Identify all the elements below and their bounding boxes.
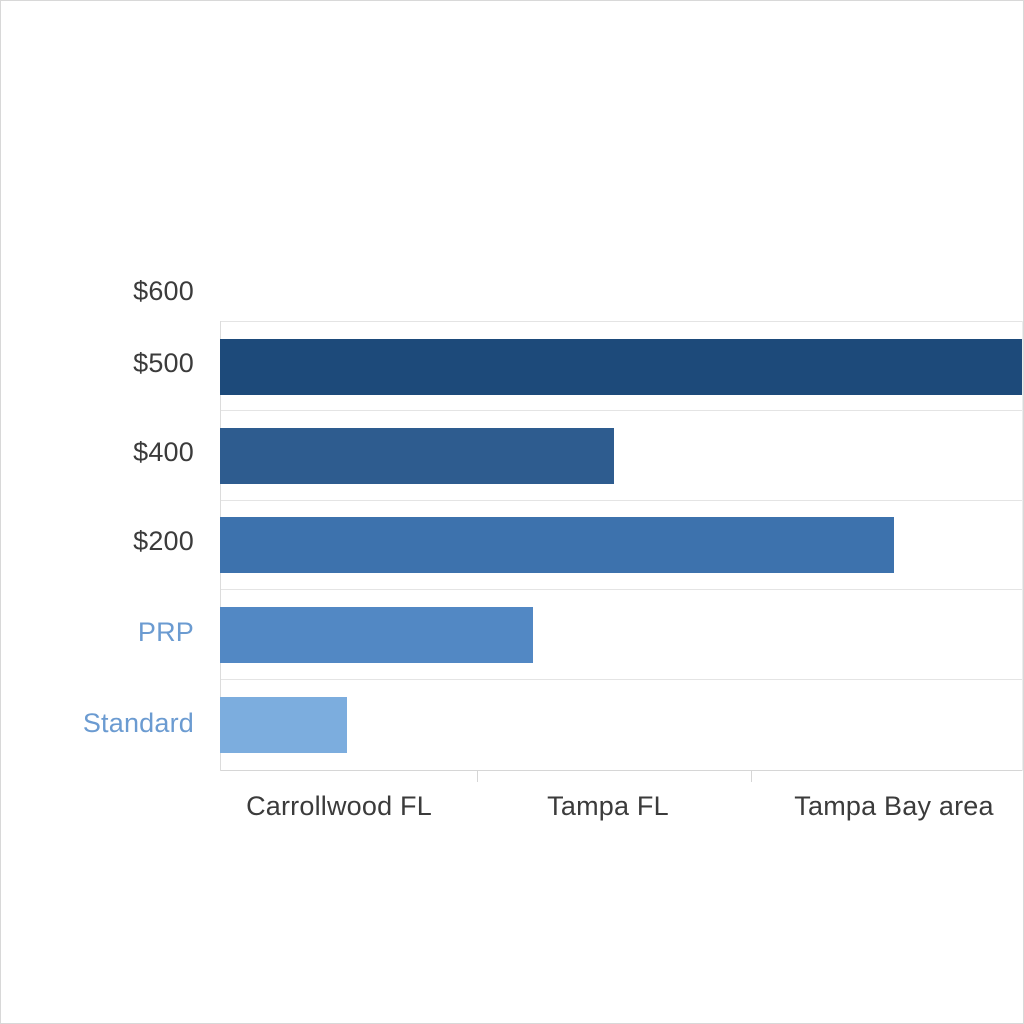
bar[interactable] (220, 607, 533, 663)
x-axis-tick-label: Carrollwood FL (246, 791, 432, 822)
bar[interactable] (220, 339, 1022, 395)
plot-area (220, 321, 1022, 770)
x-axis-tick-mark (751, 771, 752, 782)
gridline (220, 770, 1022, 771)
plot-right-edge (1022, 321, 1023, 771)
y-axis-tick-label: $500 (133, 348, 194, 379)
bar[interactable] (220, 517, 894, 573)
x-axis-tick-label: Tampa FL (547, 791, 669, 822)
bar[interactable] (220, 428, 614, 484)
y-axis-tick-label: $400 (133, 437, 194, 468)
y-axis-tick-label: $600 (133, 276, 194, 307)
y-axis-tick-label: Standard (83, 708, 194, 739)
x-axis-tick-label: Tampa Bay area (794, 791, 993, 822)
horizontal-bar-chart: $600$500$400$200PRPStandard Carrollwood … (41, 17, 1024, 1024)
chart-screenshot: $600$500$400$200PRPStandard Carrollwood … (0, 0, 1024, 1024)
y-axis-tick-label: PRP (138, 617, 194, 648)
bar[interactable] (220, 697, 347, 753)
y-axis-tick-label: $200 (133, 526, 194, 557)
x-axis-tick-mark (477, 771, 478, 782)
